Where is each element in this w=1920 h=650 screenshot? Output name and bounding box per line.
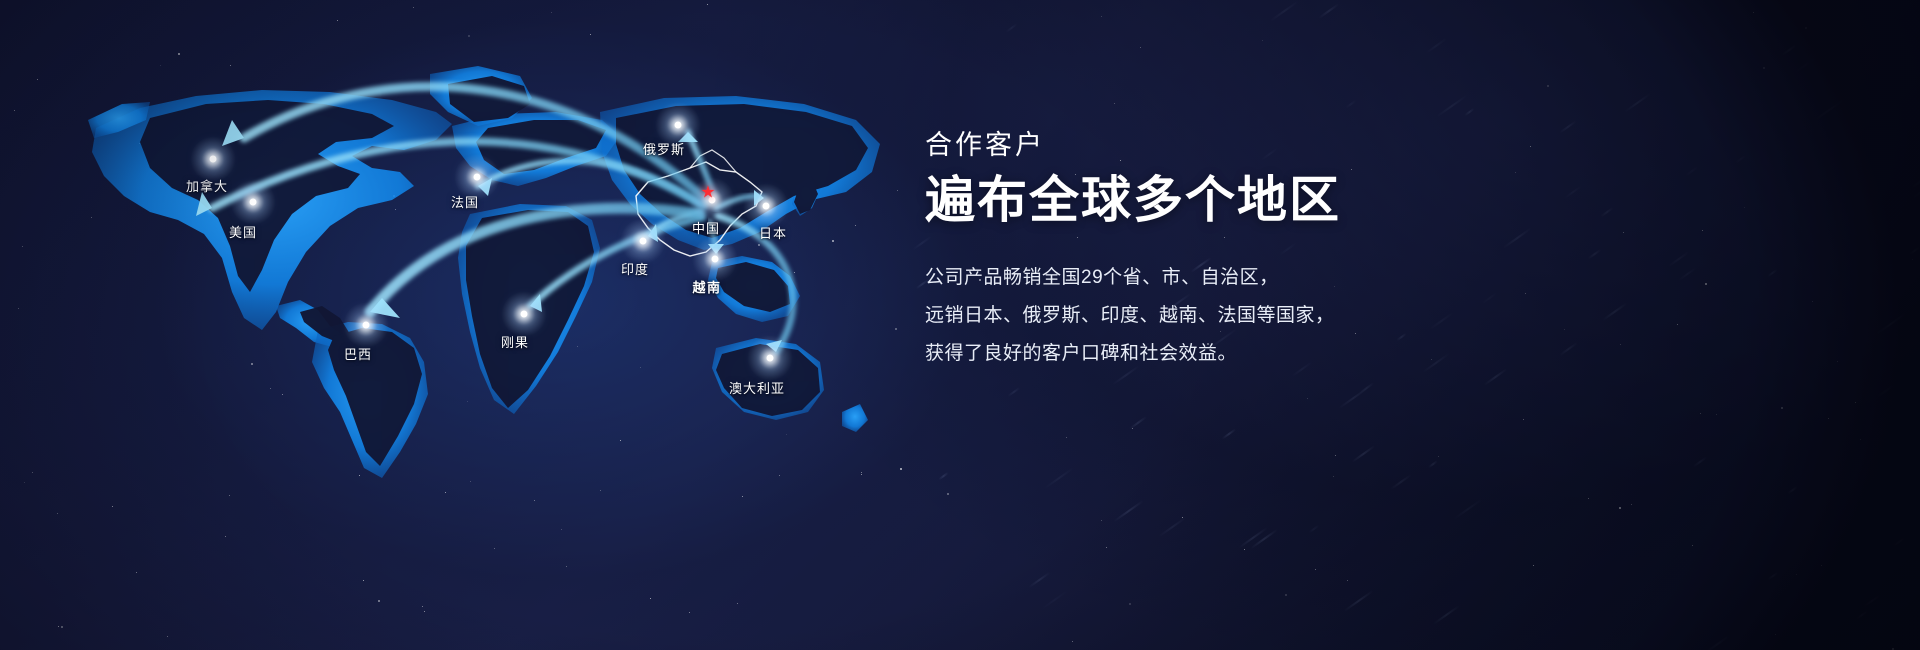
star-dot (1753, 12, 1754, 13)
star-streak (1564, 186, 1582, 199)
star-streak (1669, 251, 1690, 266)
map-label-usa: 美国 (229, 226, 257, 239)
star-streak (1855, 610, 1868, 620)
star-dot (1132, 428, 1133, 429)
star-streak (1602, 303, 1627, 321)
hero-banner: 加拿大美国巴西法国刚果俄罗斯印度中国越南日本澳大利亚★ 合作客户 遍布全球多个地… (0, 0, 1920, 650)
star-streak (1559, 121, 1576, 134)
star-dot (1438, 456, 1439, 457)
description-line: 远销日本、俄罗斯、印度、越南、法国等国家， (925, 297, 1485, 335)
star-dot (1515, 172, 1516, 173)
star-dot (1828, 418, 1829, 419)
star-dot (1860, 439, 1861, 440)
star-dot (1525, 293, 1526, 294)
star-streak (1339, 387, 1369, 409)
star-dot (1631, 504, 1632, 505)
star-dot (1912, 259, 1913, 260)
star-streak (1782, 44, 1797, 55)
eyebrow-text: 合作客户 (925, 132, 1485, 159)
star-streak (1560, 342, 1578, 356)
map-marker-usa[interactable] (250, 199, 257, 206)
star-dot (1315, 569, 1316, 570)
star-dot (1763, 67, 1765, 69)
star-dot (1564, 329, 1565, 330)
star-dot (1244, 549, 1245, 550)
star-streak (1250, 528, 1277, 548)
star-dot (1285, 594, 1287, 596)
star-streak (1912, 178, 1920, 188)
map-marker-france[interactable] (474, 174, 481, 181)
star-streak (1600, 207, 1613, 217)
star-dot (1114, 103, 1115, 104)
star-streak (1454, 499, 1483, 520)
star-dot (1533, 565, 1534, 566)
star-streak (1352, 445, 1375, 462)
star-dot (1796, 574, 1797, 575)
star-dot (1106, 547, 1107, 548)
star-dot (1705, 283, 1707, 285)
map-label-canada: 加拿大 (186, 180, 228, 193)
map-label-congo: 刚果 (501, 336, 529, 349)
map-label-vietnam: 越南 (692, 281, 721, 294)
star-streak (1678, 267, 1696, 281)
star-dot (1700, 413, 1701, 414)
star-dot (1744, 207, 1745, 208)
star-streak (1768, 571, 1779, 580)
star-streak (1359, 382, 1374, 394)
map-label-japan: 日本 (759, 227, 787, 240)
star-streak (1428, 461, 1438, 469)
world-map: 加拿大美国巴西法国刚果俄罗斯印度中国越南日本澳大利亚★ (0, 0, 960, 650)
star-streak (1006, 24, 1018, 33)
star-streak (1008, 388, 1020, 397)
star-dot (1129, 603, 1131, 605)
star-streak (1503, 227, 1531, 247)
map-marker-canada[interactable] (210, 156, 217, 163)
star-dot (1101, 520, 1102, 521)
map-marker-india[interactable] (640, 238, 647, 245)
map-label-france: 法国 (451, 196, 479, 209)
star-streak (1795, 57, 1815, 72)
star-streak (1045, 467, 1074, 488)
map-marker-russia[interactable] (675, 122, 682, 129)
star-streak (1693, 457, 1707, 468)
star-dot (1775, 634, 1776, 635)
star-streak (1222, 429, 1236, 440)
star-dot (1702, 230, 1703, 231)
star-streak (1309, 525, 1320, 533)
star-streak (1042, 590, 1069, 609)
star-dot (1140, 47, 1141, 48)
star-dot (1619, 507, 1621, 509)
star-dot (1530, 146, 1531, 147)
star-streak (1893, 537, 1906, 547)
star-dot (1812, 301, 1813, 302)
star-streak (1863, 595, 1880, 608)
star-streak (1425, 39, 1446, 54)
star-dot (1307, 398, 1308, 399)
star-dot (1620, 344, 1621, 345)
star-streak (1391, 474, 1412, 489)
star-dot (1066, 437, 1067, 438)
star-streak (1705, 635, 1730, 650)
star-dot (1333, 476, 1334, 477)
star-dot (1623, 232, 1624, 233)
star-dot (1335, 455, 1336, 456)
description-line: 获得了良好的客户口碑和社会效益。 (925, 335, 1485, 373)
star-streak (1346, 99, 1357, 108)
star-dot (1523, 419, 1524, 420)
star-dot (1347, 580, 1348, 581)
star-dot (1855, 402, 1856, 403)
star-dot (1837, 361, 1838, 362)
map-marker-japan[interactable] (763, 203, 770, 210)
star-dot (1781, 407, 1783, 409)
star-dot (1182, 517, 1183, 518)
star-streak (1735, 154, 1746, 162)
star-streak (1625, 93, 1651, 112)
star-streak (1158, 517, 1186, 537)
star-dot (1072, 641, 1073, 642)
origin-star-icon: ★ (700, 184, 715, 201)
map-label-india: 印度 (621, 263, 649, 276)
star-streak (1787, 486, 1797, 494)
star-streak (1029, 572, 1050, 588)
page-title: 遍布全球多个地区 (925, 175, 1485, 225)
star-streak (1910, 248, 1920, 256)
star-streak (1343, 590, 1373, 612)
star-streak (1318, 3, 1339, 18)
star-dot (1805, 27, 1807, 29)
description-block: 公司产品畅销全国29个省、市、自治区，远销日本、俄罗斯、印度、越南、法国等国家，… (925, 259, 1485, 373)
star-streak (1767, 270, 1777, 278)
description-line: 公司产品畅销全国29个省、市、自治区， (925, 259, 1485, 297)
star-dot (1547, 85, 1549, 87)
map-marker-brazil[interactable] (363, 322, 370, 329)
star-streak (1271, 0, 1299, 21)
star-streak (1437, 94, 1467, 116)
star-streak (1814, 100, 1843, 121)
star-dot (1677, 324, 1678, 325)
star-dot (1692, 545, 1693, 546)
star-streak (1433, 606, 1459, 625)
star-dot (1262, 40, 1263, 41)
star-streak (1239, 528, 1268, 549)
star-streak (1686, 166, 1699, 176)
map-marker-vietnam[interactable] (712, 256, 719, 263)
world-map-svg (0, 0, 960, 650)
star-streak (1484, 369, 1507, 386)
map-label-brazil: 巴西 (344, 348, 372, 361)
star-streak (1464, 108, 1474, 116)
star-dot (1588, 498, 1589, 499)
map-label-australia: 澳大利亚 (729, 382, 785, 395)
star-dot (1821, 565, 1822, 566)
star-streak (1130, 416, 1147, 429)
star-dot (1716, 414, 1717, 415)
star-streak (1877, 385, 1894, 398)
star-streak (1877, 314, 1906, 335)
map-marker-australia[interactable] (767, 355, 774, 362)
map-label-china: 中国 (692, 222, 720, 235)
copy-panel: 合作客户 遍布全球多个地区 公司产品畅销全国29个省、市、自治区，远销日本、俄罗… (925, 132, 1485, 373)
star-dot (1101, 16, 1102, 17)
map-label-russia: 俄罗斯 (643, 143, 685, 156)
map-marker-congo[interactable] (521, 311, 528, 318)
star-streak (1588, 249, 1602, 260)
star-streak (1913, 178, 1920, 199)
star-streak (1113, 500, 1143, 522)
